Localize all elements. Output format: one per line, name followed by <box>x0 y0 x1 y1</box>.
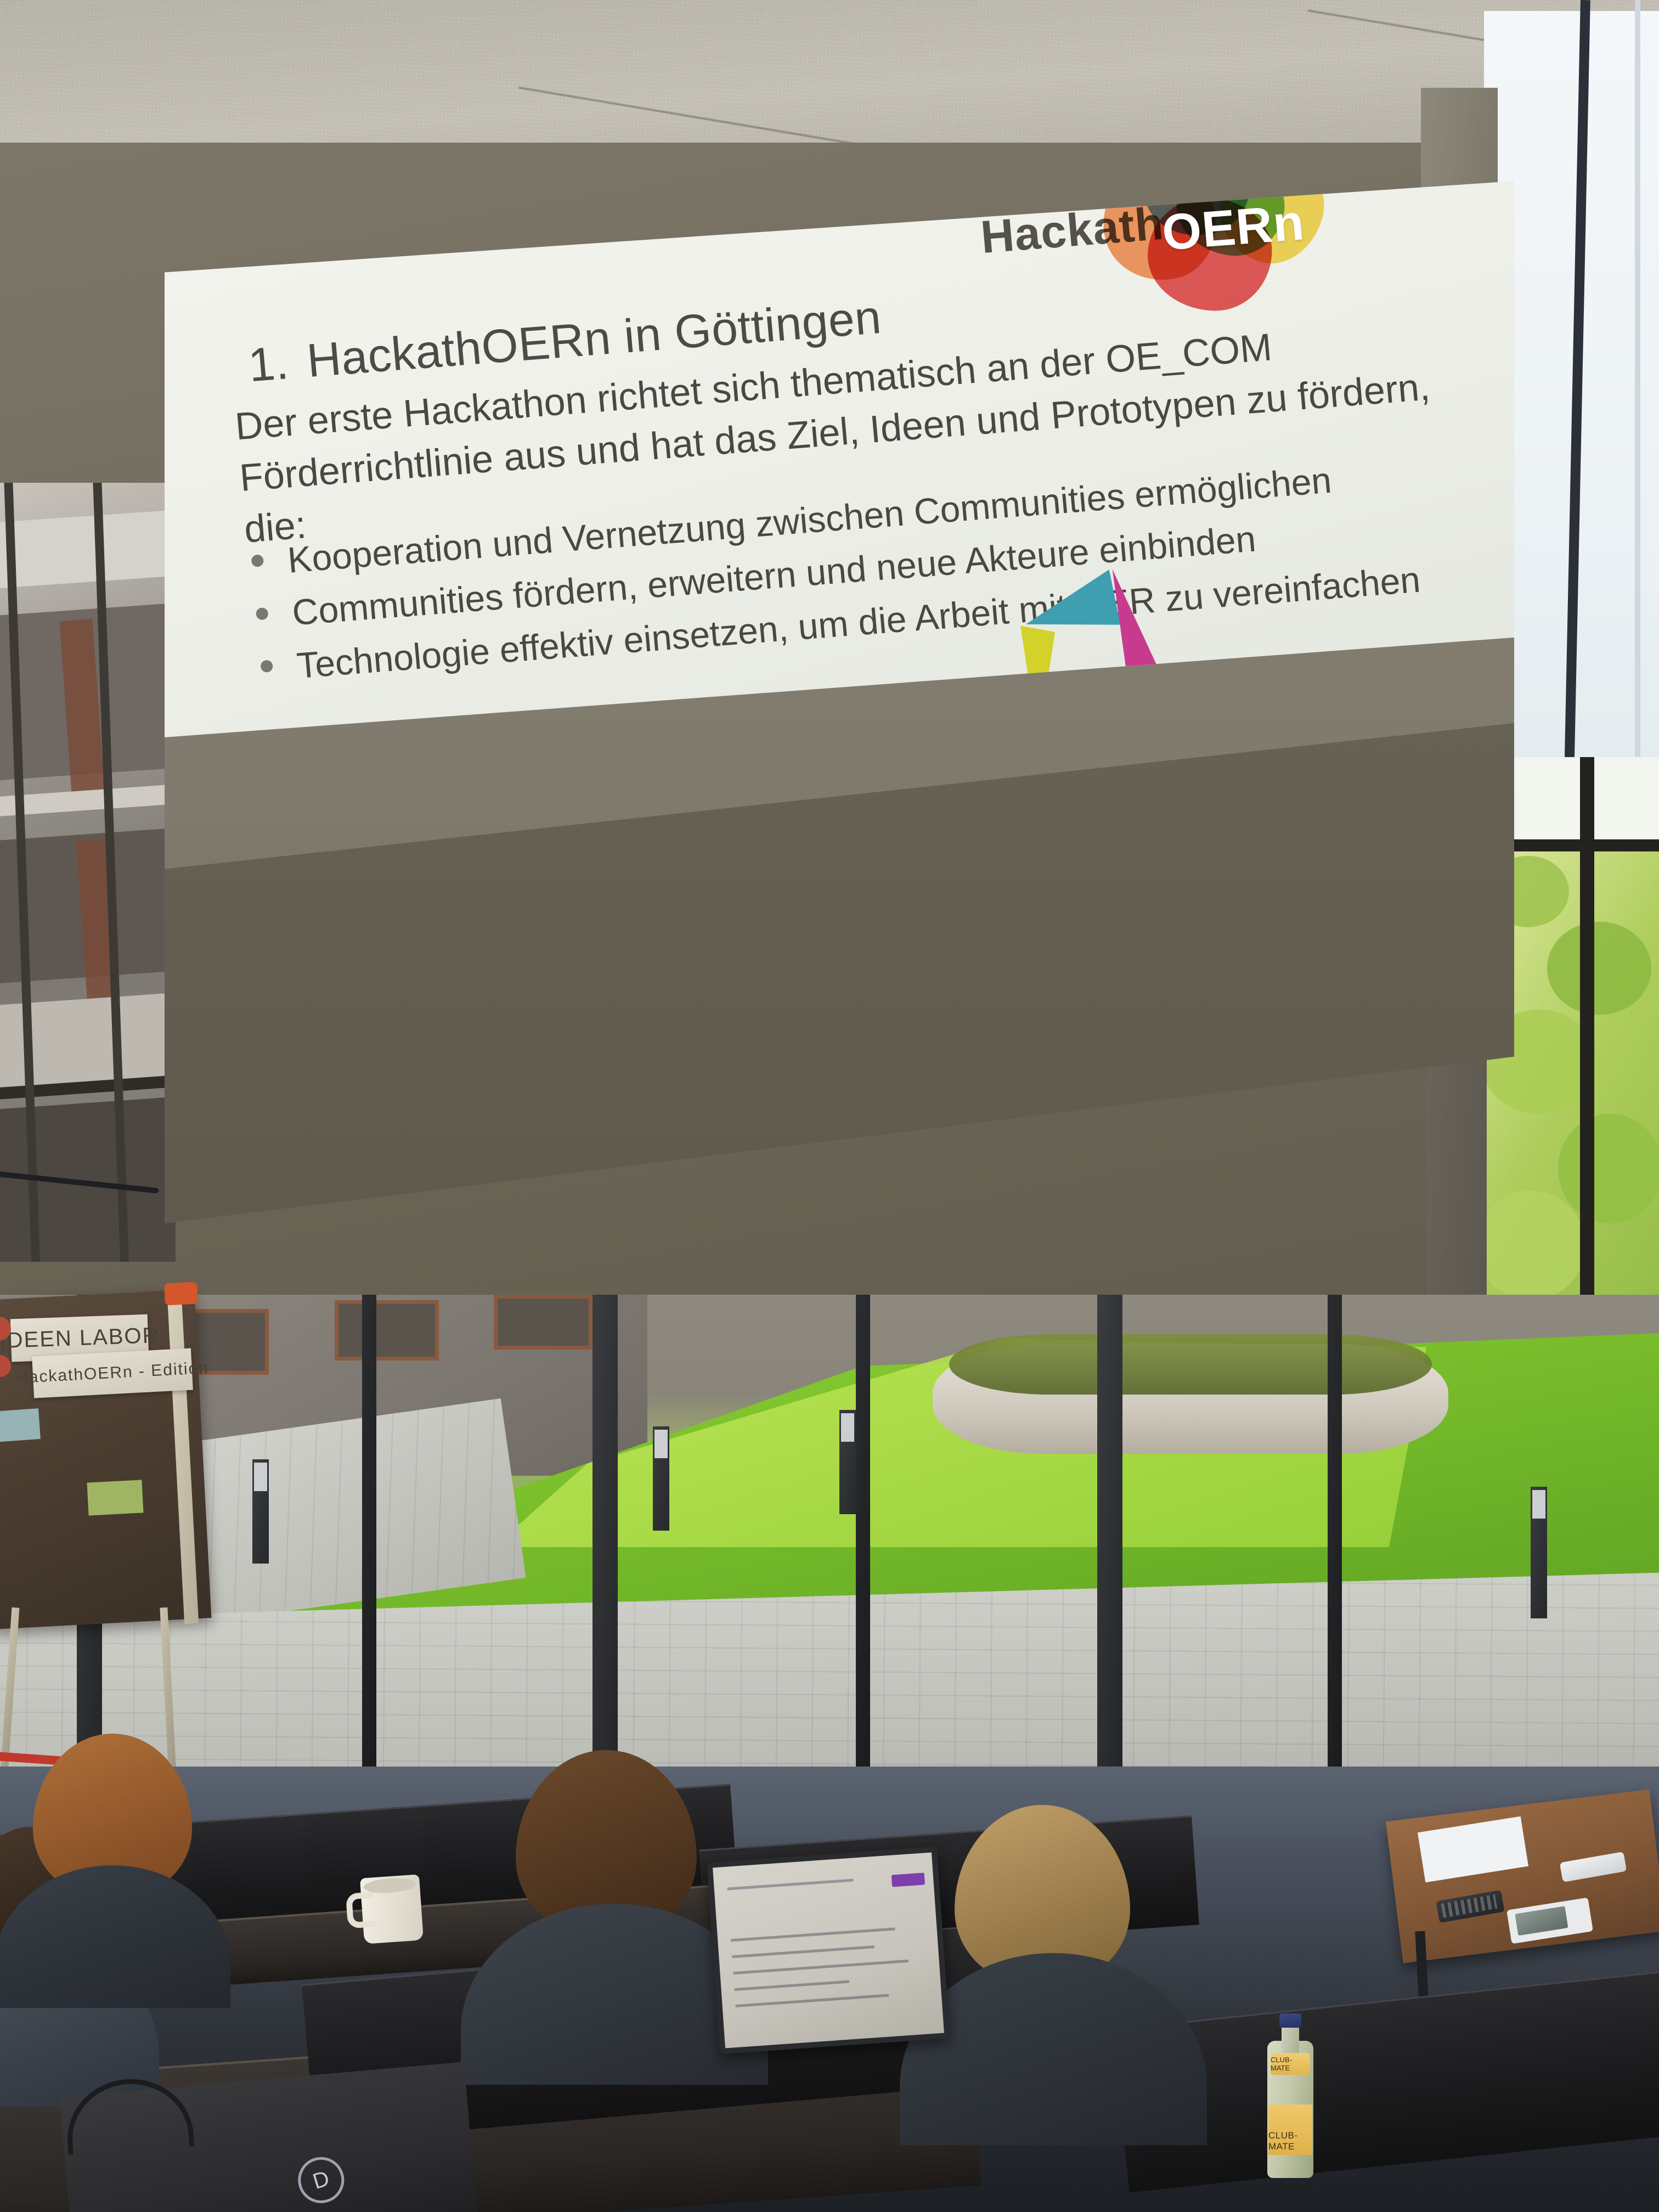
planter-vegetation <box>949 1334 1432 1395</box>
coffee-mug[interactable] <box>360 1874 424 1944</box>
oer-triangle-teal <box>1022 569 1120 632</box>
sticky-note <box>0 1408 41 1442</box>
bottle-cap <box>1279 2013 1301 2028</box>
bottle-body-label: CLUB-MATE <box>1268 2104 1312 2155</box>
bollard-light <box>839 1410 856 1514</box>
slide-title-number: 1. <box>246 336 291 392</box>
projection-screen: Hackath OERn 1.HackathOERn in Göttingen … <box>165 181 1514 1223</box>
bollard-light <box>1531 1487 1547 1618</box>
bollard-light <box>252 1459 269 1564</box>
left-window-wall <box>0 483 176 1262</box>
facade-window <box>494 1295 592 1350</box>
hackathoern-logo: Hackath OERn <box>973 181 1335 286</box>
foliage <box>1558 1114 1659 1223</box>
bottle-body-label-text: CLUB-MATE <box>1268 2130 1312 2155</box>
dell-logo: D <box>292 2151 350 2209</box>
window-mullion <box>1097 1295 1122 1843</box>
foliage <box>1547 922 1651 1015</box>
window-mullion <box>856 1295 870 1843</box>
window-frame <box>1635 0 1640 779</box>
lecture-hall-photo: Hackath OERn 1.HackathOERn in Göttingen … <box>0 0 1659 2212</box>
window-mullion <box>362 1295 376 1843</box>
courtyard-window-wall <box>0 1295 1659 1843</box>
bottle-neck-label-text: CLUB-MATE <box>1271 2056 1310 2072</box>
bottle-neck-label: CLUB-MATE <box>1271 2053 1310 2075</box>
pinboard-corner-cap <box>164 1282 198 1305</box>
facade-window <box>335 1300 439 1361</box>
sticky-note <box>87 1480 143 1515</box>
facade-band <box>0 509 176 589</box>
club-mate-bottle[interactable]: CLUB-MATE CLUB-MATE <box>1267 2013 1313 2178</box>
hackathoern-wordmark-highlight: OERn <box>1160 194 1307 262</box>
handwritten-sign-hackathoern-edition: HackathOERn - Edition <box>32 1348 193 1398</box>
sign-text: IDEEN LABOR <box>0 1323 160 1353</box>
window-mullion <box>1328 1295 1342 1843</box>
open-laptop[interactable] <box>707 1847 950 2054</box>
sign-text: HackathOERn - Edition <box>15 1359 209 1387</box>
bollard-light <box>653 1426 669 1531</box>
laptop-accent-badge <box>891 1872 925 1887</box>
